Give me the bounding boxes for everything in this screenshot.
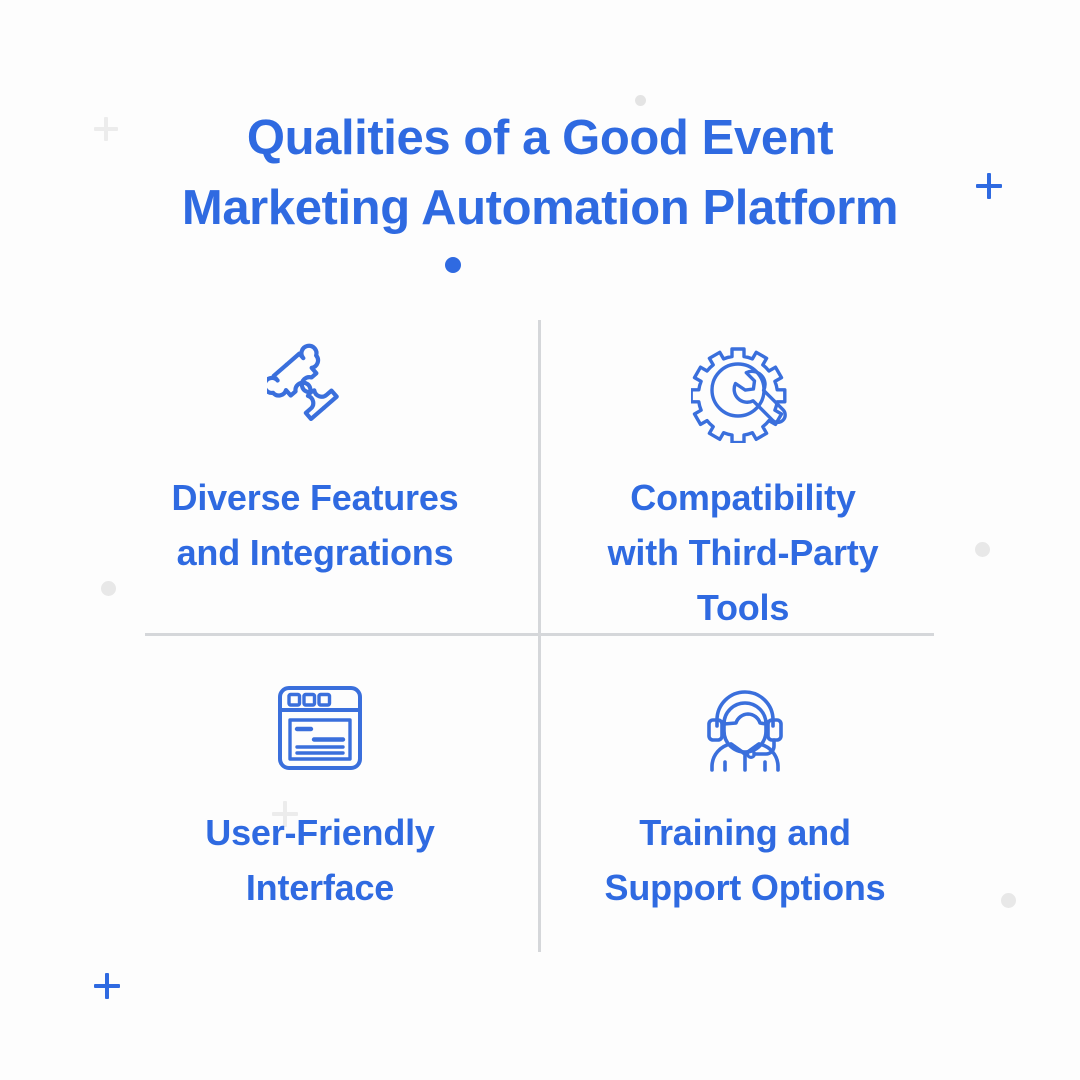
quadrant-label: User-Friendly Interface <box>110 805 530 915</box>
quadrant-label: Diverse Features and Integrations <box>105 470 525 580</box>
quadrant-label-line-2: with Third-Party <box>555 525 931 580</box>
quadrant-label-line-1: User-Friendly <box>132 805 508 860</box>
quadrant-compatibility: Compatibility with Third-Party Tools <box>533 340 953 635</box>
quadrant-diverse-features: Diverse Features and Integrations <box>105 340 525 580</box>
quadrant-label-line-1: Diverse Features <box>127 470 503 525</box>
page-title-line-2: Marketing Automation Platform <box>90 173 990 243</box>
browser-window-icon <box>110 675 530 781</box>
page-title-line-1: Qualities of a Good Event <box>90 103 990 173</box>
puzzle-pieces-icon <box>105 340 525 446</box>
quadrant-label-line-2: Interface <box>132 860 508 915</box>
quadrant-user-friendly-interface: User-Friendly Interface <box>110 675 530 915</box>
dot-title-accent <box>445 257 461 273</box>
infographic-canvas: Qualities of a Good Event Marketing Auto… <box>0 0 1080 1080</box>
quadrant-label-line-3: Tools <box>555 580 931 635</box>
quadrant-label: Compatibility with Third-Party Tools <box>533 470 953 635</box>
quadrant-label-line-1: Training and <box>557 805 933 860</box>
quadrant-label-line-2: and Integrations <box>127 525 503 580</box>
page-title: Qualities of a Good Event Marketing Auto… <box>90 103 990 243</box>
quadrant-label: Training and Support Options <box>535 805 955 915</box>
plus-bottom-left <box>94 973 120 999</box>
gear-wrench-icon <box>533 340 953 446</box>
quadrant-training-support: Training and Support Options <box>535 675 955 915</box>
support-agent-headset-icon <box>535 675 955 781</box>
quadrant-label-line-1: Compatibility <box>555 470 931 525</box>
quadrant-grid: Diverse Features and Integrations Compat… <box>0 320 1080 960</box>
quadrant-label-line-2: Support Options <box>557 860 933 915</box>
